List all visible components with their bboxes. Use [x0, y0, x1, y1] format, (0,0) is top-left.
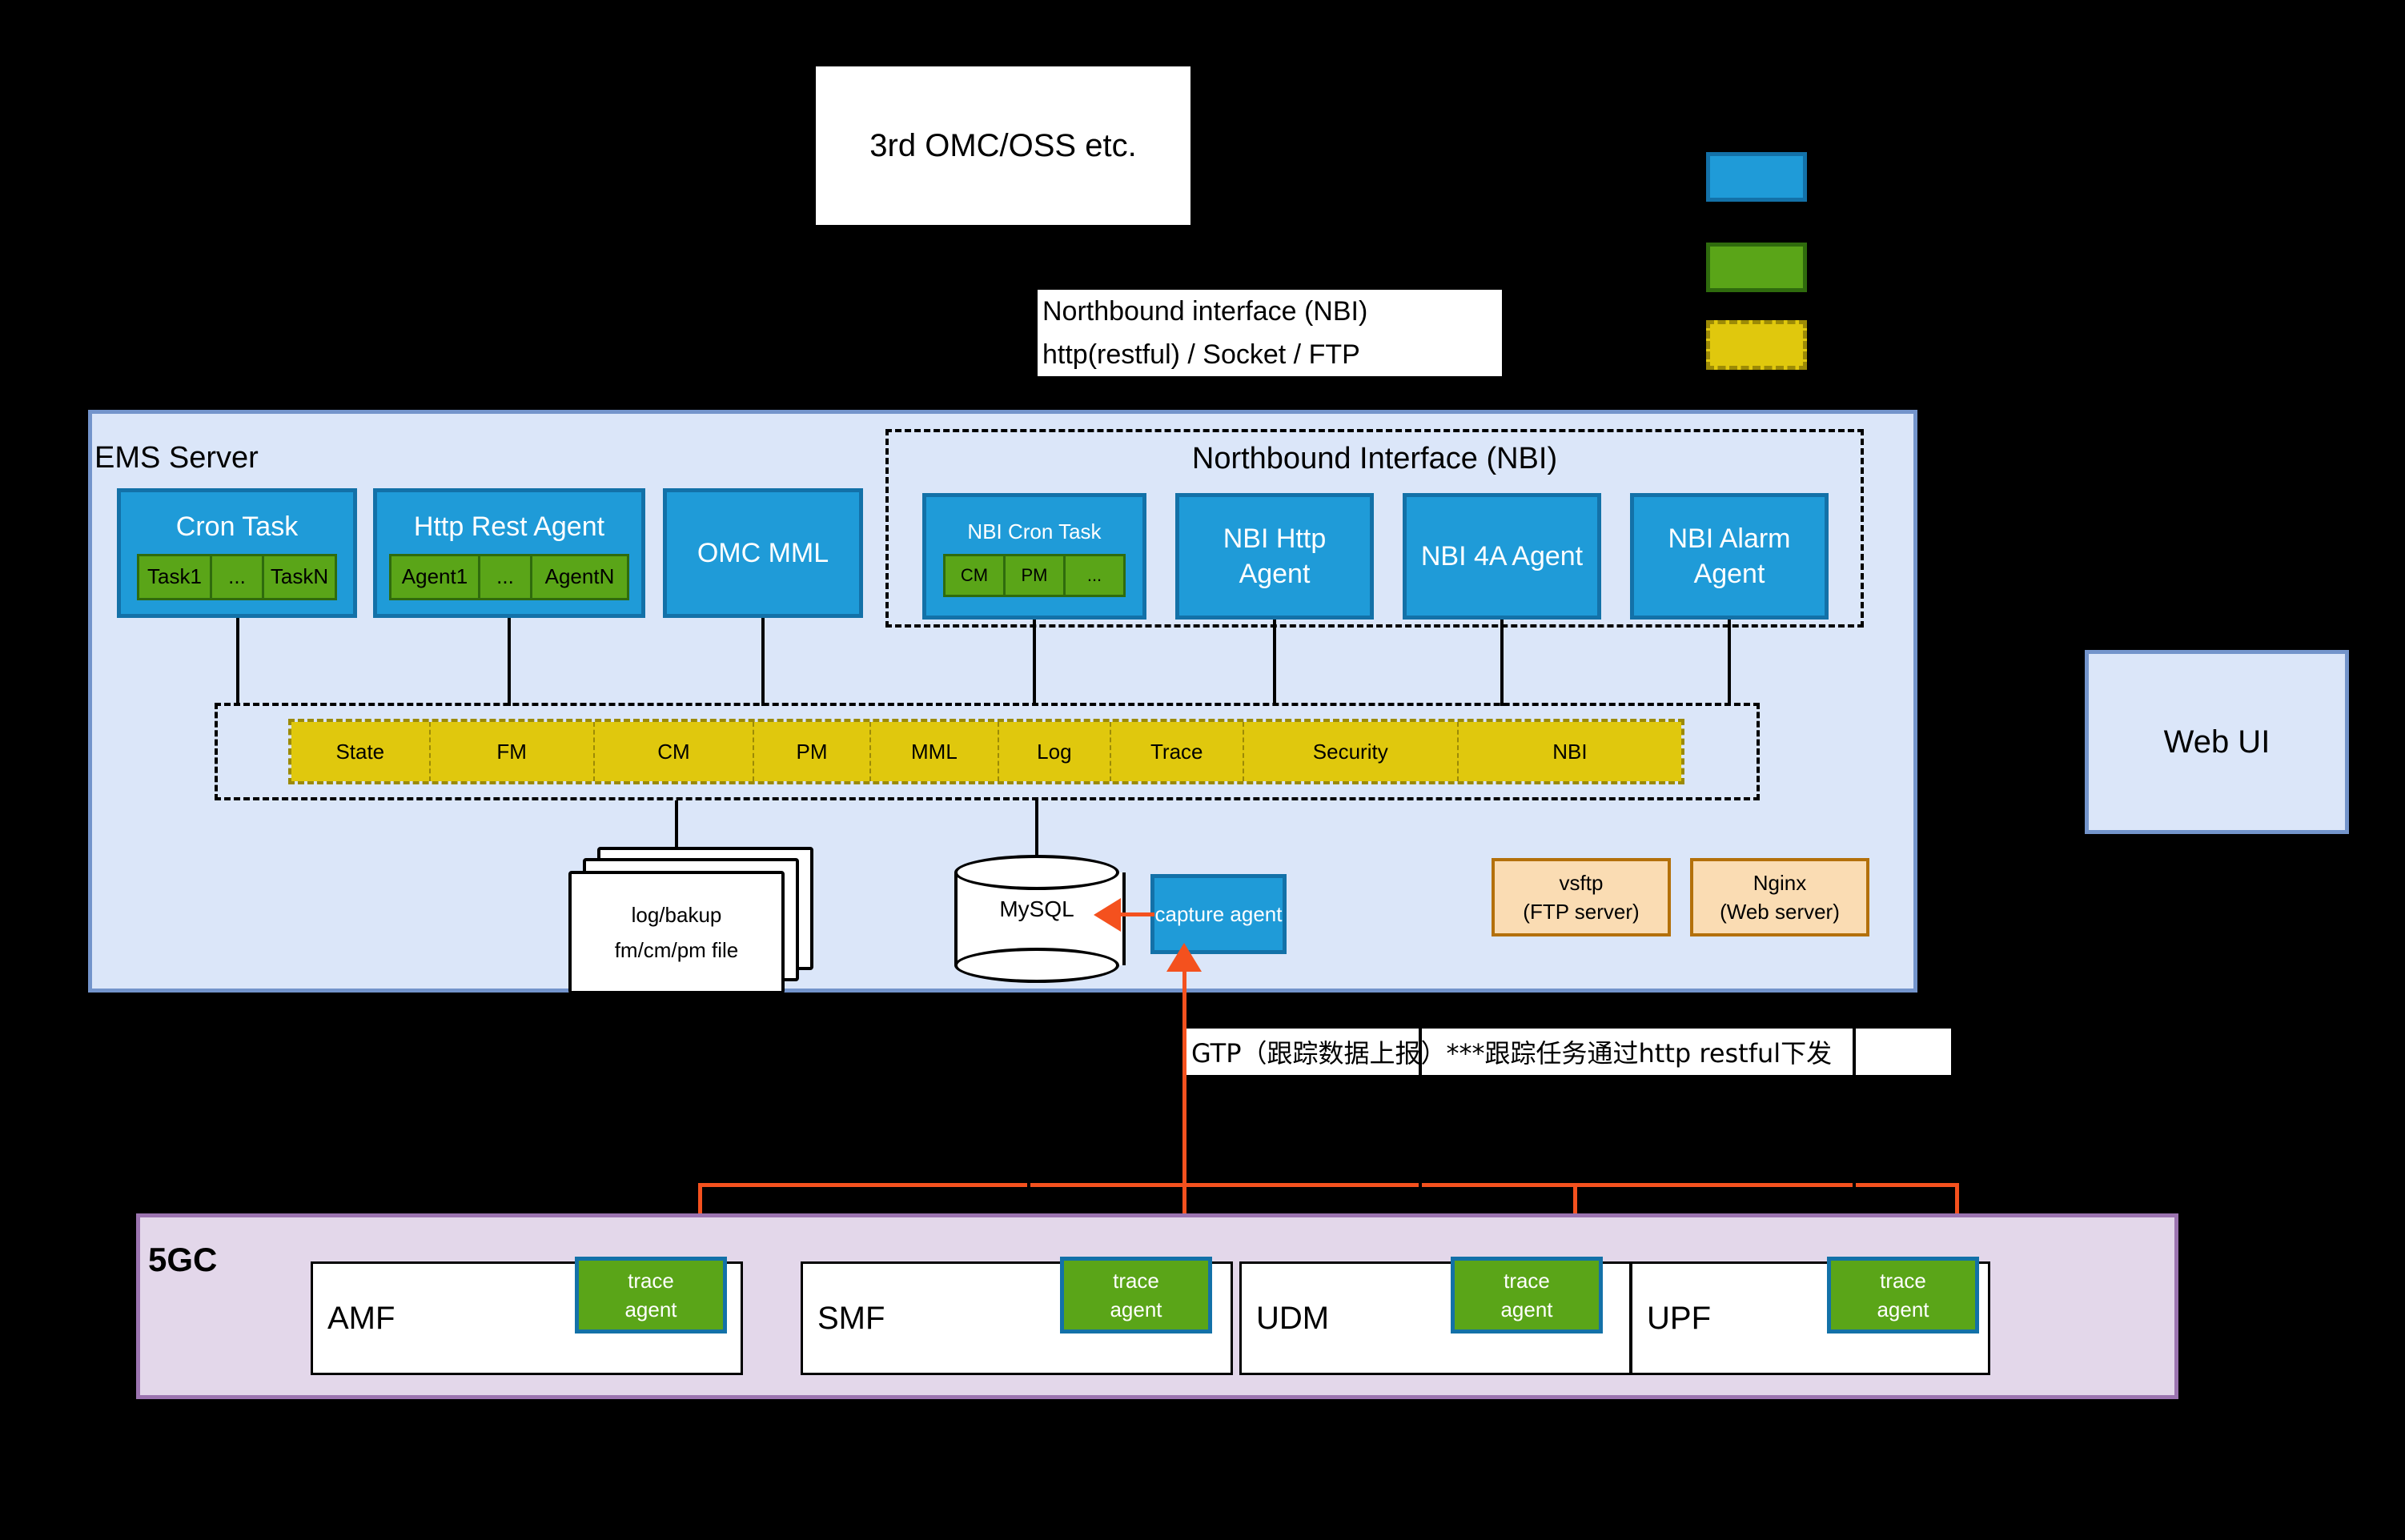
network-function-label: UPF	[1647, 1301, 1711, 1337]
trace-agent-line1: trace	[1880, 1266, 1926, 1295]
service-module-mml[interactable]: MML	[871, 722, 999, 781]
nbi-group-title: Northbound Interface (NBI)	[885, 439, 1864, 479]
subtask-chip[interactable]: Task1	[137, 554, 212, 600]
trace-link-horizontal-bus	[698, 1183, 1959, 1187]
agent-card-omc-mml[interactable]: OMC MML	[663, 488, 863, 618]
arrow-capture-to-mysql-line	[1119, 912, 1154, 916]
connector-omc-mml-to-bus	[761, 618, 765, 706]
subagent-chip[interactable]: AgentN	[532, 554, 629, 600]
vsftp-line2: (FTP server)	[1523, 897, 1639, 926]
subtask-chip[interactable]: ...	[212, 554, 264, 600]
trace-agent-line2: agent	[1110, 1295, 1162, 1324]
agent-card-title: NBI 4A Agent	[1415, 539, 1589, 574]
document-sheet-front: log/bakup fm/cm/pm file	[568, 871, 785, 994]
service-module-pm[interactable]: PM	[754, 722, 871, 781]
nbi-subtask-chip[interactable]: PM	[1006, 554, 1066, 597]
capture-agent-box[interactable]: capture agent	[1150, 874, 1287, 954]
service-module-nbi[interactable]: NBI	[1459, 722, 1681, 781]
agent-card-title: Cron Task	[176, 511, 298, 543]
subtask-chip[interactable]: TaskN	[264, 554, 337, 600]
trace-agent-amf[interactable]: trace agent	[575, 1257, 727, 1333]
capture-agent-label: capture agent	[1154, 899, 1282, 929]
service-bus-bar: State FM CM PM MML Log Trace Security NB…	[288, 719, 1684, 784]
web-ui-box[interactable]: Web UI	[2085, 650, 2349, 834]
agent-card-title: OMC MML	[697, 538, 829, 569]
agent-card-title: NBI Alarm Agent	[1634, 521, 1825, 592]
connector-cron-task-to-bus	[236, 618, 239, 706]
files-label-line1: log/bakup	[632, 897, 722, 932]
agent-card-nbi-cron-task[interactable]: NBI Cron Task CM PM ...	[922, 493, 1146, 620]
connector-nbi-cron-task-to-bus	[1033, 620, 1036, 706]
cylinder-top	[954, 855, 1119, 890]
service-module-state[interactable]: State	[291, 722, 431, 781]
legend-blue-swatch	[1706, 152, 1807, 202]
trace-agent-upf[interactable]: trace agent	[1827, 1257, 1979, 1333]
nbi-subtask-chip[interactable]: ...	[1066, 554, 1126, 597]
subagent-chip[interactable]: Agent1	[389, 554, 480, 600]
legend-green-swatch	[1706, 243, 1807, 292]
subagent-chip[interactable]: ...	[480, 554, 532, 600]
nginx-line2: (Web server)	[1720, 897, 1840, 926]
service-module-cm[interactable]: CM	[595, 722, 754, 781]
trace-agent-line1: trace	[1113, 1266, 1159, 1295]
agent-card-title: Http Rest Agent	[414, 511, 604, 543]
connector-http-rest-agent-to-bus	[508, 618, 511, 706]
agent-card-http-rest-agent[interactable]: Http Rest Agent Agent1 ... AgentN	[373, 488, 645, 618]
trace-agent-line2: agent	[624, 1295, 677, 1324]
cylinder-bottom	[954, 948, 1119, 983]
web-ui-label: Web UI	[2164, 724, 2270, 760]
nginx-line1: Nginx	[1753, 868, 1806, 897]
connector-omc-to-nbi	[1002, 227, 1005, 411]
files-label-line2: fm/cm/pm file	[615, 932, 739, 968]
connector-nbi-4a-agent-to-bus	[1500, 620, 1504, 706]
nbi-protocol-line1: Northbound interface (NBI)	[1042, 290, 1502, 333]
connector-bus-to-mysql	[1035, 800, 1038, 855]
service-module-fm[interactable]: FM	[431, 722, 595, 781]
legend-yellow-swatch	[1706, 320, 1807, 370]
vsftp-line1: vsftp	[1560, 868, 1604, 897]
gtp-trace-note: GTP（跟踪数据上报）***跟踪任务通过http restful下发	[1186, 1029, 1951, 1075]
third-party-label: 3rd OMC/OSS etc.	[869, 128, 1136, 164]
trace-agent-smf[interactable]: trace agent	[1060, 1257, 1212, 1333]
network-function-label: SMF	[817, 1301, 885, 1337]
agent-card-nbi-alarm-agent[interactable]: NBI Alarm Agent	[1630, 493, 1829, 620]
connector-bus-to-files	[675, 800, 678, 848]
agent-card-nbi-4a-agent[interactable]: NBI 4A Agent	[1403, 493, 1601, 620]
connector-nbi-http-agent-to-bus	[1273, 620, 1276, 706]
service-module-log[interactable]: Log	[999, 722, 1111, 781]
trace-agent-line2: agent	[1500, 1295, 1552, 1324]
ems-server-title: EMS Server	[94, 441, 415, 475]
agent-card-cron-task[interactable]: Cron Task Task1 ... TaskN	[117, 488, 357, 618]
network-function-label: AMF	[327, 1301, 395, 1337]
trace-agent-udm[interactable]: trace agent	[1451, 1257, 1603, 1333]
trace-agent-line1: trace	[628, 1266, 674, 1295]
agent-card-title: NBI Cron Task	[967, 519, 1101, 544]
nbi-subtask-chip[interactable]: CM	[943, 554, 1006, 597]
third-party-omc-oss-box: 3rd OMC/OSS etc.	[813, 64, 1193, 227]
arrow-trace-to-capture-head	[1166, 943, 1202, 972]
mysql-database-cylinder: MySQL	[954, 855, 1119, 985]
trace-agent-line1: trace	[1504, 1266, 1550, 1295]
mysql-label: MySQL	[954, 896, 1119, 922]
network-function-label: UDM	[1256, 1301, 1329, 1337]
connector-nbi-alarm-agent-to-bus	[1728, 620, 1731, 706]
service-module-trace[interactable]: Trace	[1111, 722, 1244, 781]
vsftp-server-box: vsftp (FTP server)	[1492, 858, 1671, 936]
trace-agent-line2: agent	[1877, 1295, 1929, 1324]
nbi-protocol-line2: http(restful) / Socket / FTP	[1042, 333, 1502, 376]
service-module-security[interactable]: Security	[1244, 722, 1459, 781]
log-backup-files-stack: log/bakup fm/cm/pm file	[568, 847, 817, 988]
core-network-title: 5GC	[148, 1241, 308, 1279]
agent-card-nbi-http-agent[interactable]: NBI Http Agent	[1175, 493, 1374, 620]
agent-card-title: NBI Http Agent	[1179, 521, 1370, 592]
nbi-protocol-label: Northbound interface (NBI) http(restful)…	[1038, 290, 1502, 376]
nginx-server-box: Nginx (Web server)	[1690, 858, 1869, 936]
